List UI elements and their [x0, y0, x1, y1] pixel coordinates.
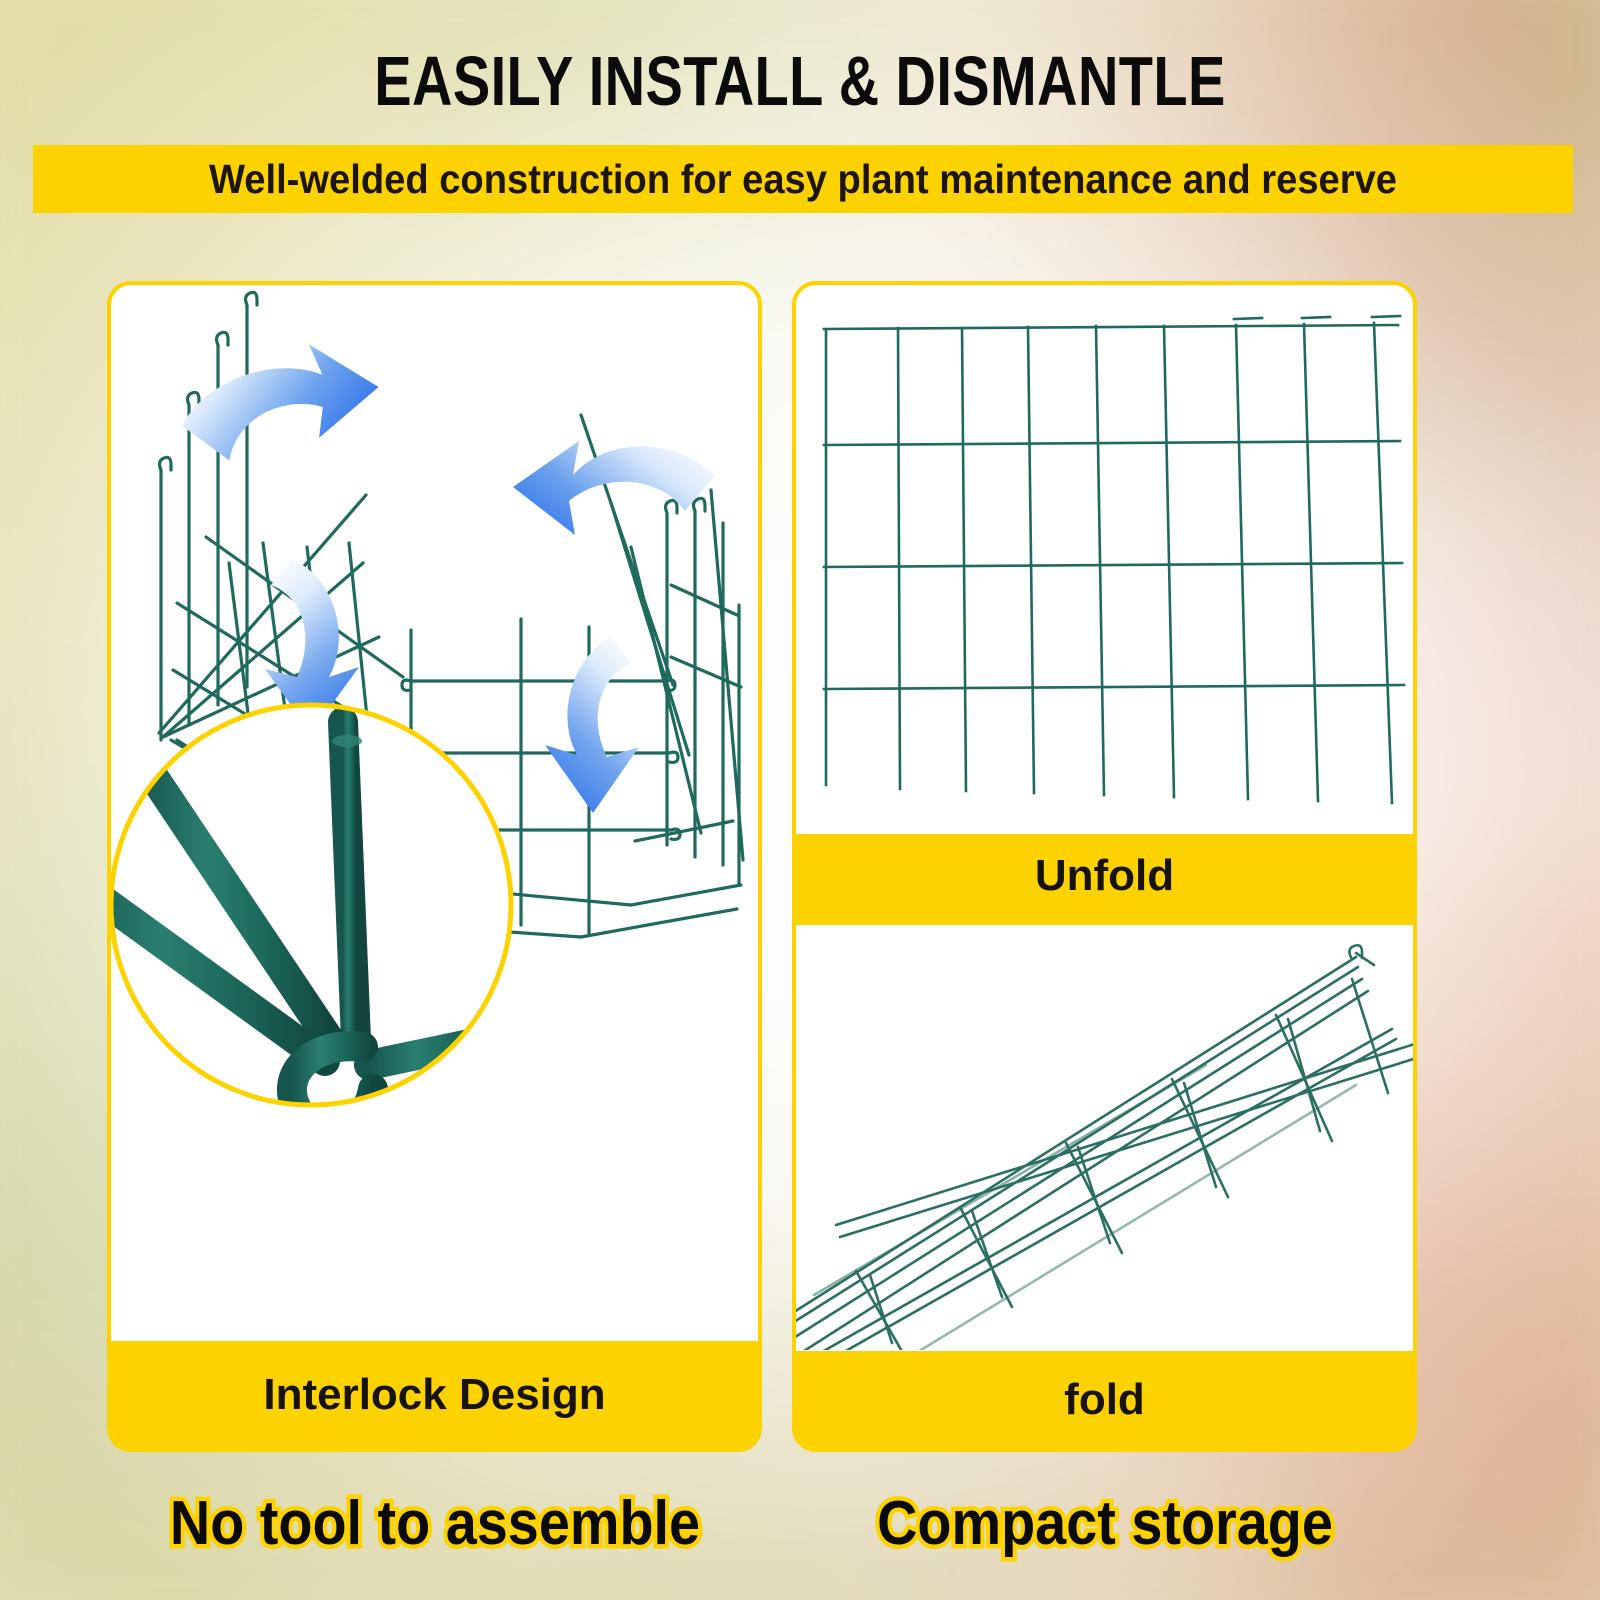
fold-mesh-svg: [796, 925, 1413, 1350]
wire-mesh-grid-folded-flat: [796, 925, 1413, 1350]
arrow-top-right-icon: [513, 441, 715, 535]
wire-mesh-grid-unfolded: [796, 285, 1413, 833]
interlock-knot-closeup: [111, 705, 511, 1128]
arrow-top-left-icon: [173, 336, 386, 467]
folding-cage-svg: [111, 285, 758, 1340]
arrow-mid-right-icon: [545, 637, 639, 813]
caption-no-tool: No tool to assemble: [131, 1476, 739, 1572]
caption-compact-storage: Compact storage: [814, 1476, 1395, 1572]
subtitle-text: Well-welded construction for easy plant …: [87, 145, 1519, 213]
subtitle-banner: Well-welded construction for easy plant …: [33, 145, 1573, 213]
unfold-mesh-svg: [796, 285, 1413, 833]
panel-fold: fold: [792, 921, 1417, 1452]
page-title: EASILY INSTALL & DISMANTLE: [160, 40, 1440, 122]
panel-unfold: Unfold: [792, 281, 1417, 921]
panel-label-interlock: Interlock Design: [110, 1341, 759, 1449]
rod-vertical: [343, 722, 356, 1040]
infographic-root: EASILY INSTALL & DISMANTLE Well-welded c…: [0, 0, 1600, 1600]
panel-label-fold: fold: [795, 1351, 1414, 1449]
panel-interlock-design: Interlock Design: [107, 281, 762, 1452]
panel-label-unfold: Unfold: [795, 834, 1414, 918]
folding-cage-diagram-with-arrows: [111, 285, 758, 1340]
